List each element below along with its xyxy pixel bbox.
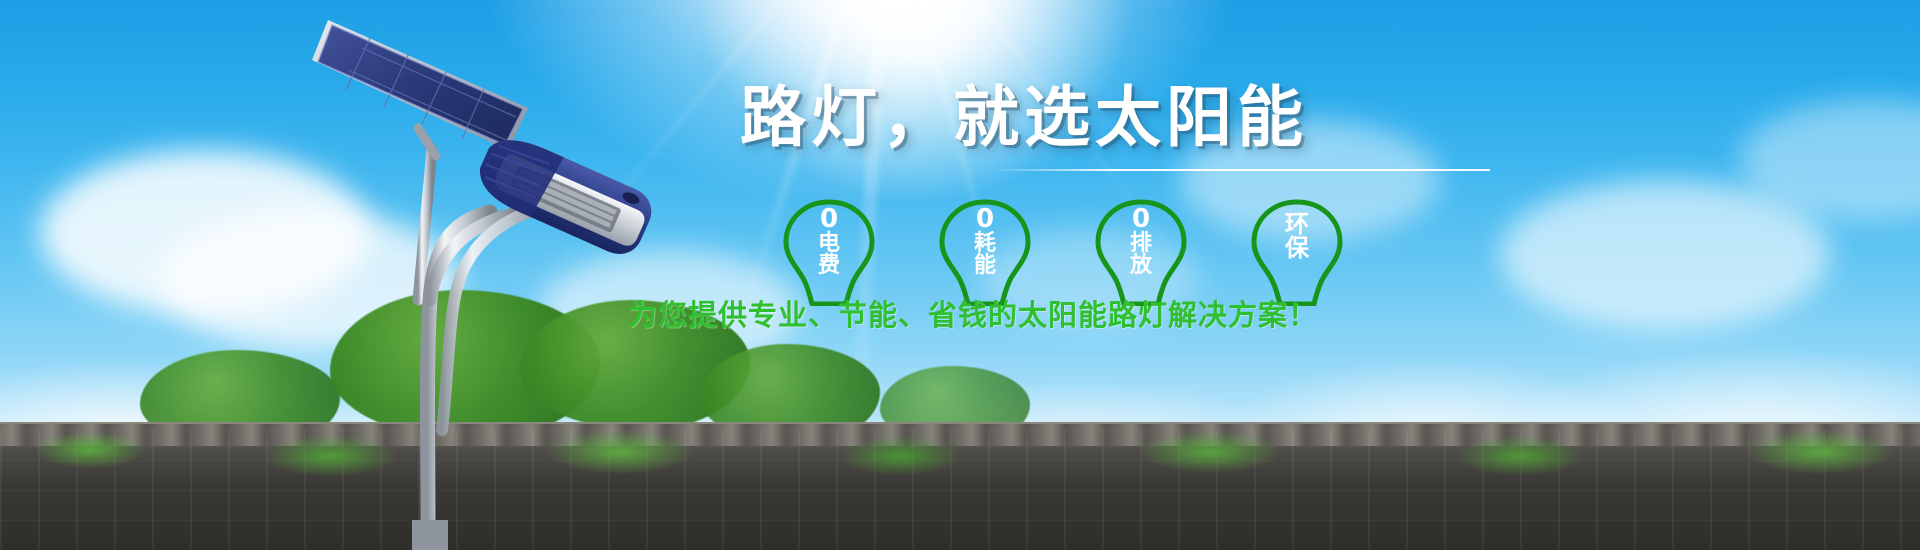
headline-block: 路灯，就选太阳能 [740, 82, 1520, 171]
solar-streetlight-banner: 路灯，就选太阳能 0 电 费 0 耗 能 [0, 0, 1920, 550]
feature-bulb-list: 0 电 费 0 耗 能 0 排 放 [770, 196, 1470, 306]
feature-word-2: 费 [770, 255, 888, 277]
feature-word-1: 环 [1238, 212, 1356, 236]
headline-accent: 太阳能 [1095, 79, 1308, 156]
feature-bulb-label: 0 电 费 [770, 206, 888, 277]
feature-word-1: 耗 [926, 233, 1044, 255]
feature-word-2: 能 [926, 255, 1044, 277]
feature-bulb-item: 环 保 [1238, 196, 1356, 306]
page-title: 路灯，就选太阳能 [740, 82, 1520, 153]
feature-bulb-label: 0 排 放 [1082, 206, 1200, 277]
subtitle-text: 为您提供专业、节能、省钱的太阳能路灯解决方案！ [628, 292, 1248, 334]
feature-bulb-label: 环 保 [1238, 206, 1356, 261]
feature-zero: 0 [1082, 206, 1200, 233]
feature-word-1: 电 [770, 233, 888, 255]
solar-streetlight-product-image [300, 0, 720, 550]
feature-word-2: 放 [1082, 255, 1200, 277]
feature-bulb-item: 0 耗 能 [926, 196, 1044, 306]
headline-divider [990, 169, 1490, 171]
cloud [1500, 180, 1830, 330]
feature-word-2: 保 [1238, 236, 1356, 260]
feature-bulb-label: 0 耗 能 [926, 206, 1044, 277]
vine-leaves [0, 390, 1920, 480]
feature-zero: 0 [770, 206, 888, 233]
feature-word-1: 排 [1082, 233, 1200, 255]
headline-lead: 路灯，就选 [740, 79, 1095, 156]
feature-bulb-item: 0 排 放 [1082, 196, 1200, 306]
feature-zero: 0 [926, 206, 1044, 233]
feature-bulb-item: 0 电 费 [770, 196, 888, 306]
